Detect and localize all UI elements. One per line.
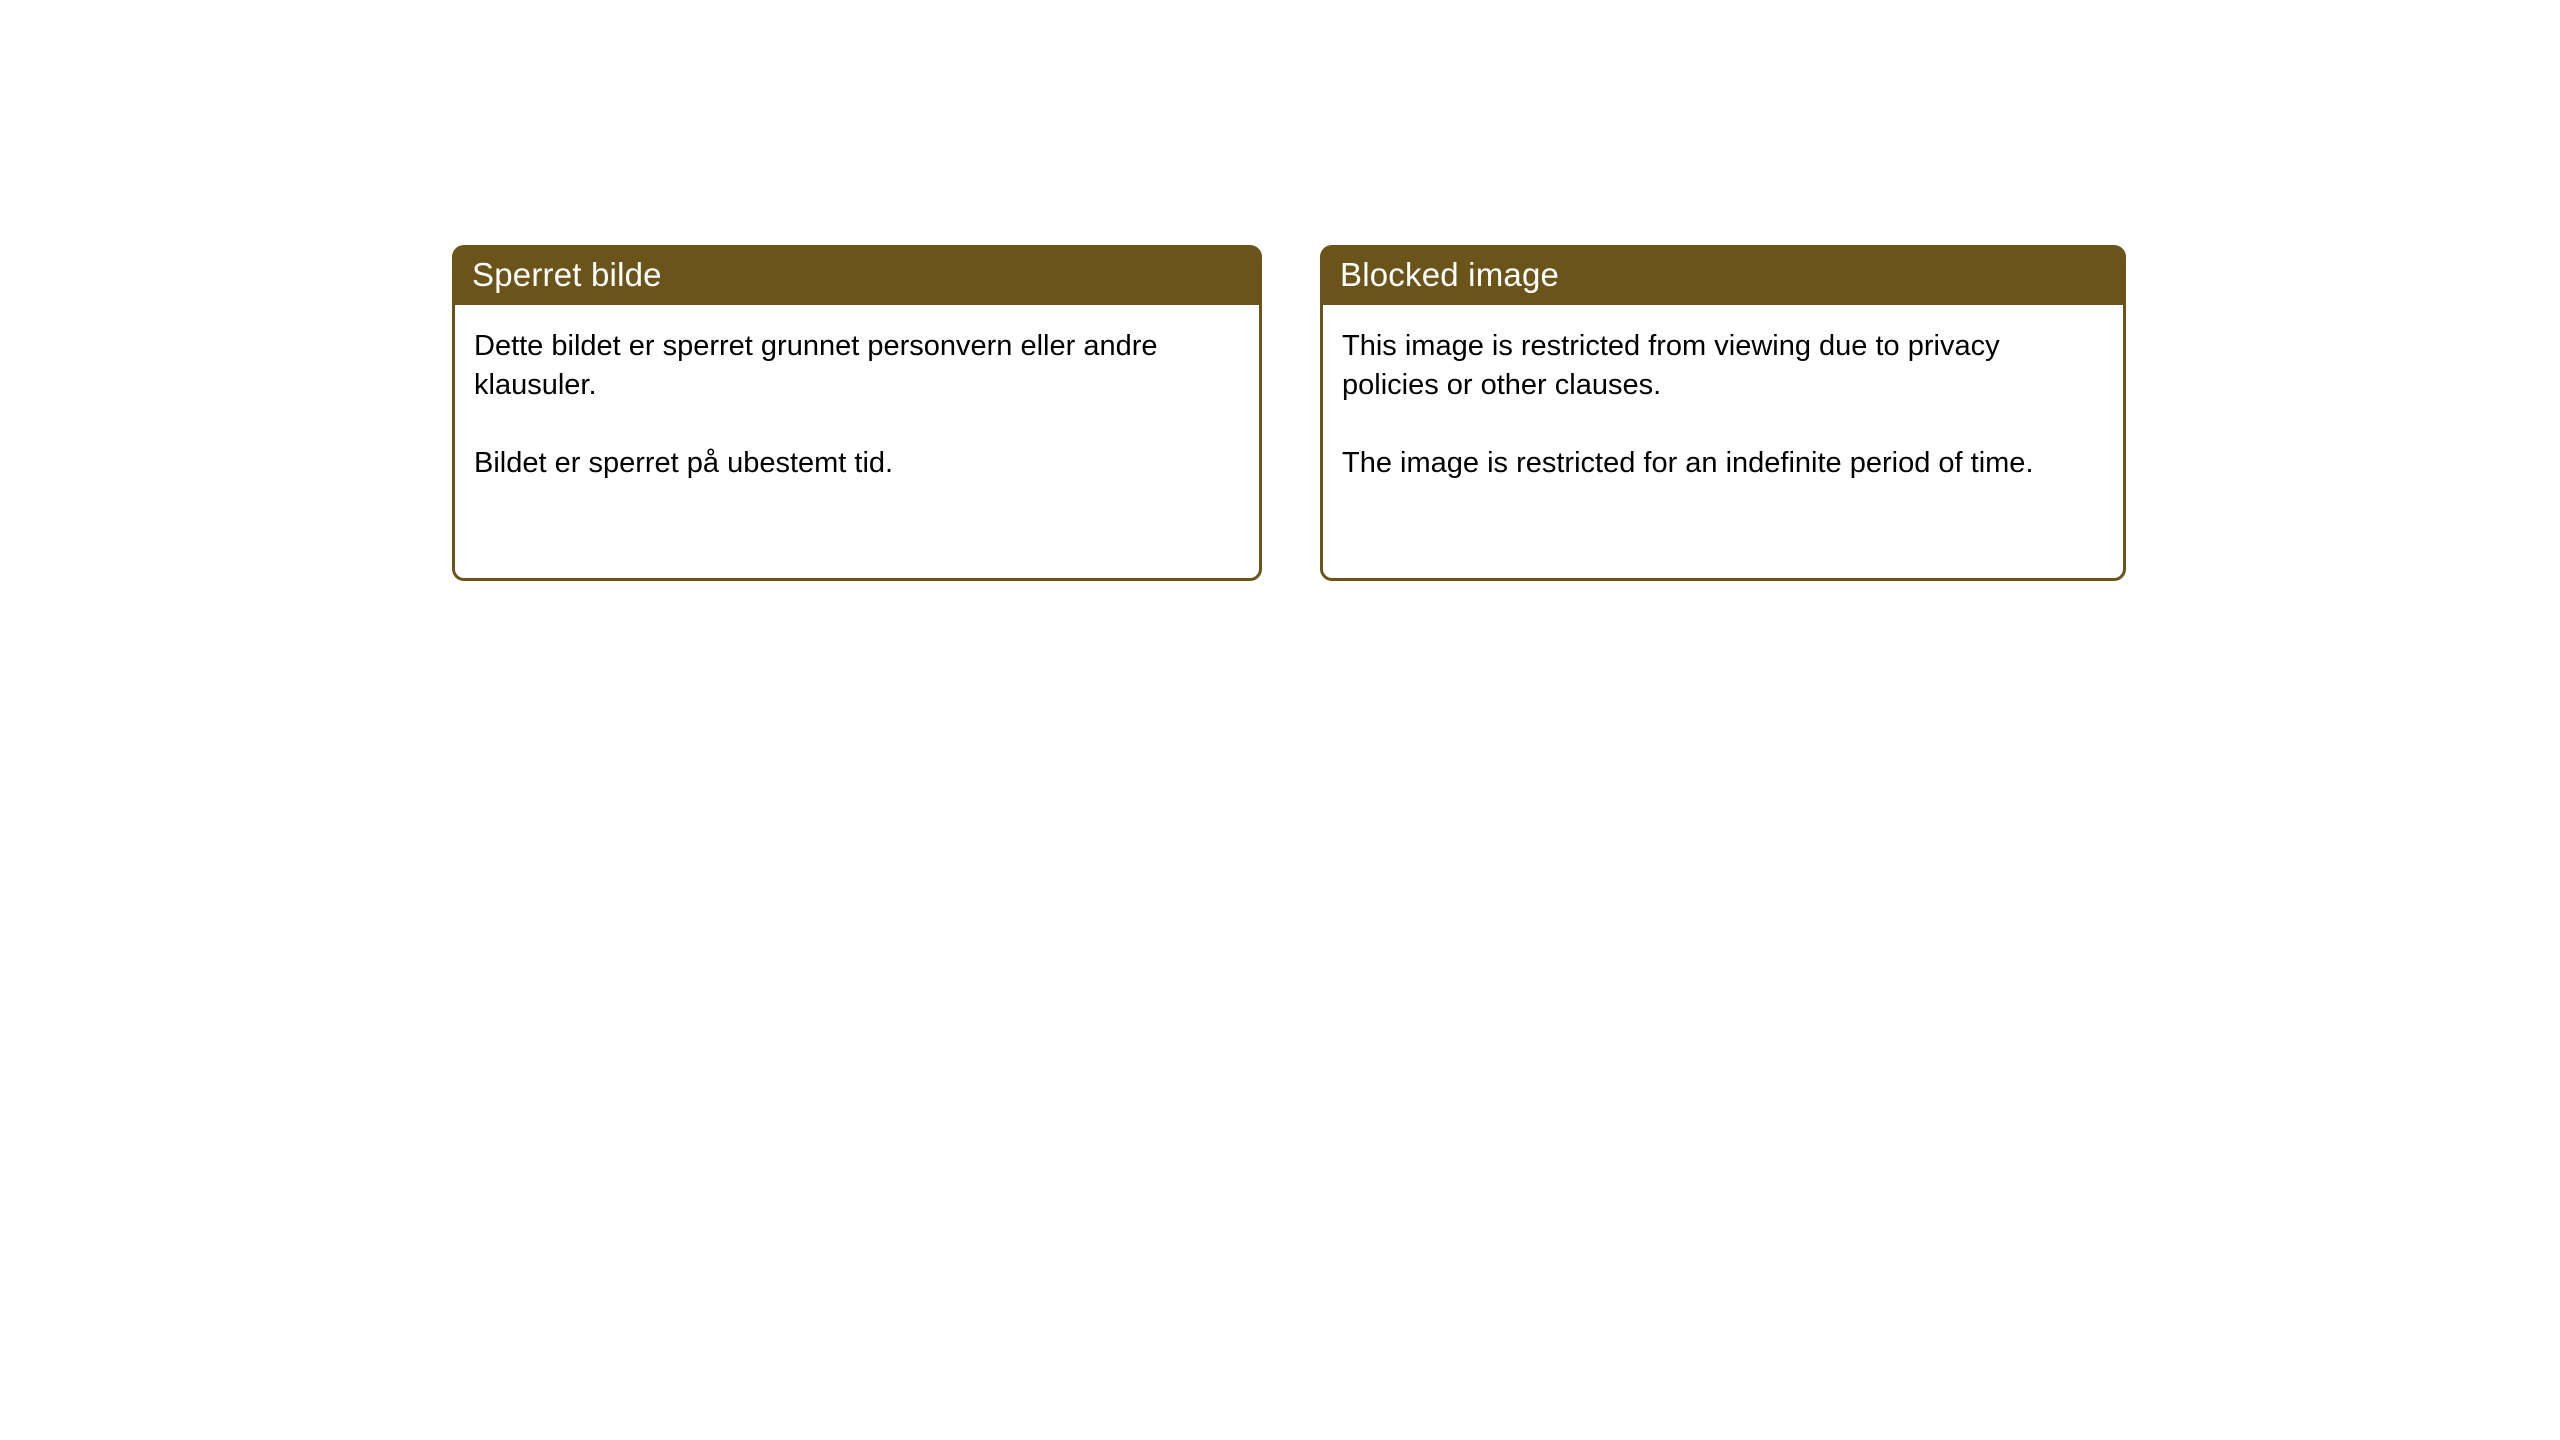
panel-body-english: This image is restricted from viewing du… [1320, 305, 2126, 581]
panel-title-english: Blocked image [1340, 257, 1559, 293]
panel-header-english: Blocked image [1320, 245, 2126, 305]
blocked-image-panel-english: Blocked image This image is restricted f… [1320, 245, 2126, 581]
panel-paragraph-duration-norwegian: Bildet er sperret på ubestemt tid. [474, 444, 1235, 483]
blocked-image-panel-norwegian: Sperret bilde Dette bildet er sperret gr… [452, 245, 1262, 581]
blocked-image-notice-group: Sperret bilde Dette bildet er sperret gr… [452, 245, 2126, 581]
panel-title-norwegian: Sperret bilde [472, 257, 662, 293]
panel-paragraph-reason-english: This image is restricted from viewing du… [1342, 327, 2099, 405]
panel-paragraph-reason-norwegian: Dette bildet er sperret grunnet personve… [474, 327, 1235, 405]
panel-header-norwegian: Sperret bilde [452, 245, 1262, 305]
panel-paragraph-duration-english: The image is restricted for an indefinit… [1342, 444, 2099, 483]
panel-body-norwegian: Dette bildet er sperret grunnet personve… [452, 305, 1262, 581]
